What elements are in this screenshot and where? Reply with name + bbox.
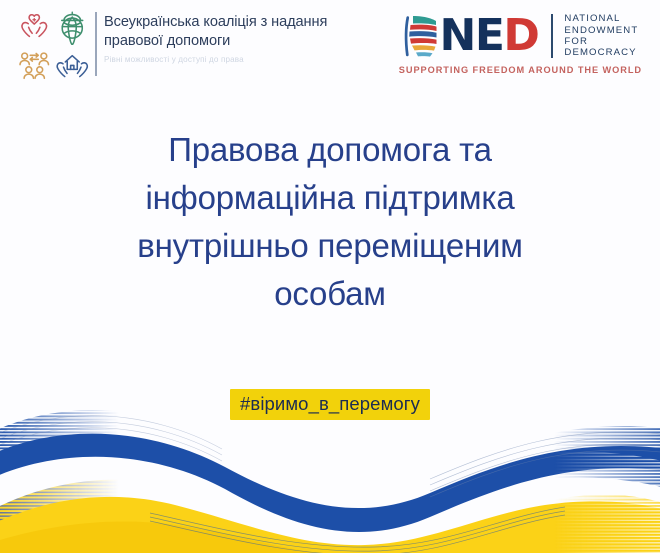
title-line-1: Правова допомога та [0, 126, 660, 174]
ned-name-line-3: FOR [564, 36, 638, 47]
hashtag-area: #віримо_в_перемогу [0, 389, 660, 420]
globe-helmet-icon [54, 8, 91, 45]
hands-heart-icon [16, 8, 53, 45]
poster-title: Правова допомога та інформаційна підтрим… [0, 126, 660, 318]
ned-name-line-1: NATIONAL [564, 13, 638, 24]
coalition-logo: Всеукраїнська коаліція з надання правово… [16, 8, 329, 80]
coalition-divider [95, 12, 97, 76]
title-line-2: інформаційна підтримка [0, 174, 660, 222]
coalition-title: Всеукраїнська коаліція з надання правово… [104, 13, 329, 51]
title-line-3: внутрішньо переміщеним [0, 222, 660, 270]
coalition-tagline: Рівні можливості у доступі до права [104, 54, 329, 65]
ned-name-line-2: ENDOWMENT [564, 25, 638, 36]
ned-wordmark-ne: NE [440, 10, 504, 61]
ned-full-name: NATIONAL ENDOWMENT FOR DEMOCRACY [564, 13, 638, 59]
ned-logo-row: NED NATIONAL ENDOWMENT FOR DEMOCRACY [403, 12, 639, 60]
coalition-text-block: Всеукраїнська коаліція з надання правово… [104, 8, 329, 65]
people-group-icon [16, 46, 53, 83]
hashtag-badge: #віримо_в_перемогу [230, 389, 430, 420]
ned-tagline: SUPPORTING FREEDOM AROUND THE WORLD [399, 65, 642, 75]
hands-house-icon [54, 46, 91, 83]
title-line-4: особам [0, 270, 660, 318]
ned-wordmark: NED [440, 14, 539, 58]
poster-canvas: Всеукраїнська коаліція з надання правово… [0, 0, 660, 553]
ned-name-line-4: DEMOCRACY [564, 47, 638, 58]
coalition-icon-grid [16, 8, 90, 80]
header-bar: Всеукраїнська коаліція з надання правово… [0, 0, 660, 92]
ned-vertical-rule [551, 14, 553, 58]
ned-globe-mark-icon [403, 12, 439, 60]
ned-wordmark-d: D [503, 10, 538, 61]
ned-logo: NED NATIONAL ENDOWMENT FOR DEMOCRACY SUP… [399, 8, 642, 75]
